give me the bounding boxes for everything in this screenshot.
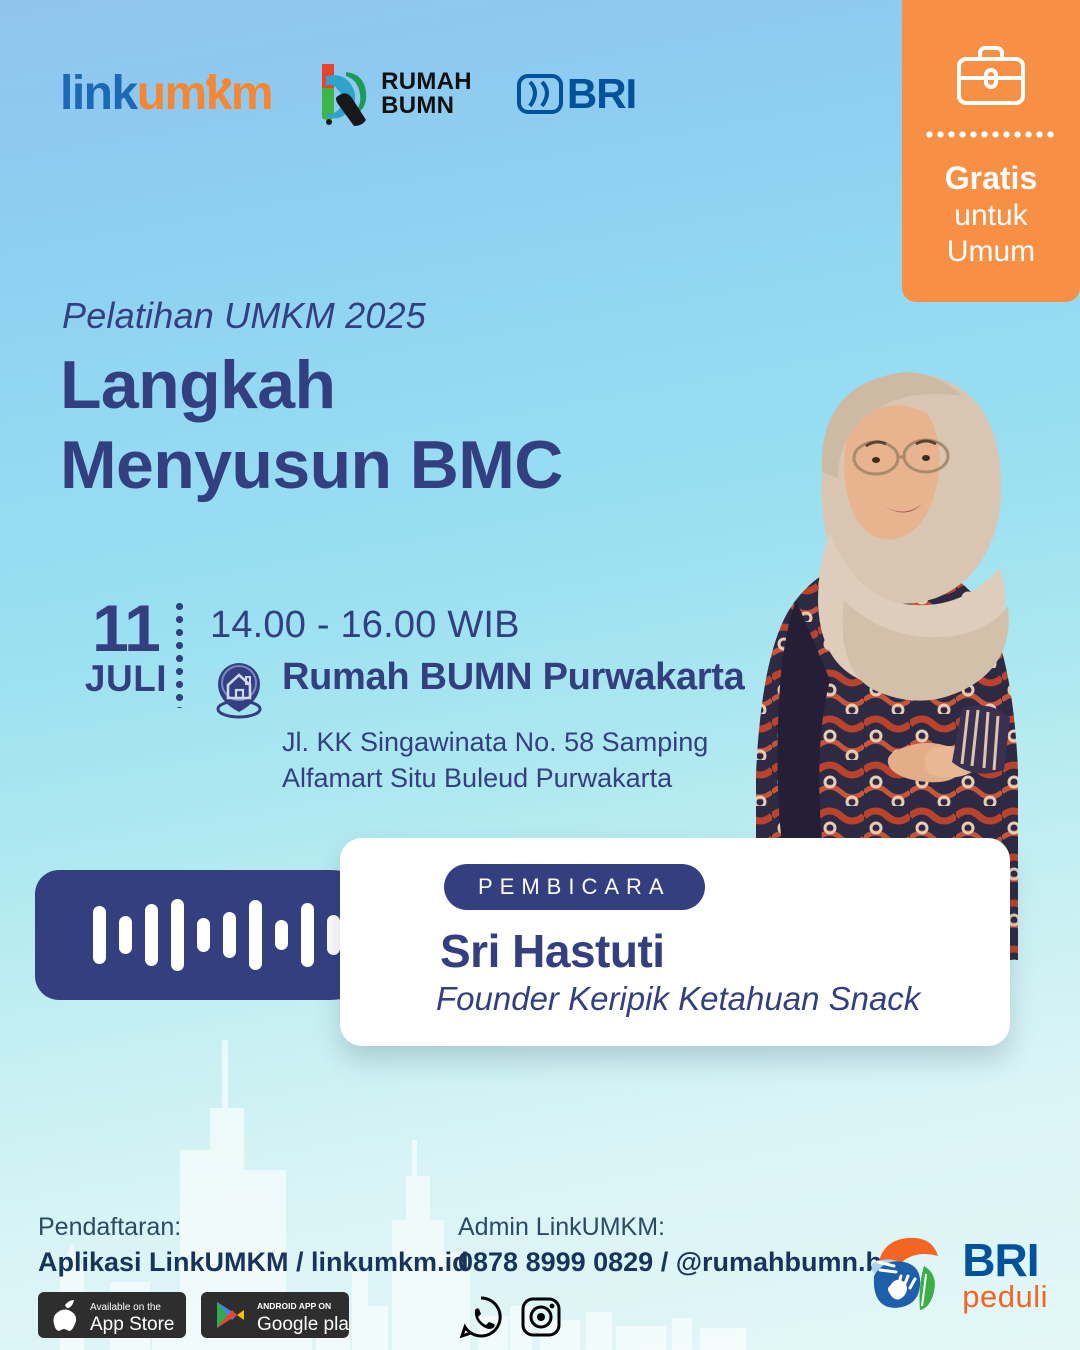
waveform-bar xyxy=(223,912,236,958)
event-month: JULI xyxy=(62,659,190,700)
registration-block: Pendaftaran: Aplikasi LinkUMKM / linkumk… xyxy=(38,1212,469,1338)
map-pin-house-icon xyxy=(210,657,268,719)
event-address-line2: Alfamart Situ Buleud Purwakarta xyxy=(282,761,780,797)
waveform-bar xyxy=(197,918,210,952)
rumah-bumn-line1: RUMAH xyxy=(381,70,472,94)
app-store-big-text: App Store xyxy=(90,1314,175,1335)
instagram-icon[interactable] xyxy=(518,1294,564,1340)
waveform-bar xyxy=(275,920,288,950)
event-info: 14.00 - 16.00 WIB Rumah BUMN Purwakarta … xyxy=(210,605,780,797)
event-address-line1: Jl. KK Singawinata No. 58 Samping xyxy=(282,725,780,761)
bri-peduli-sub: peduli xyxy=(962,1281,1048,1312)
event-address: Jl. KK Singawinata No. 58 Samping Alfama… xyxy=(282,725,780,797)
umlaut-dot-left-icon xyxy=(206,78,215,87)
app-store-small-text: Available on the xyxy=(90,1302,161,1313)
bri-peduli-logo: BRI peduli xyxy=(860,1228,1048,1320)
linkumkm-logo-link: link xyxy=(60,67,137,120)
speaker-name: Sri Hastuti xyxy=(440,924,665,978)
event-venue-row: Rumah BUMN Purwakarta xyxy=(210,657,780,719)
bri-peduli-wordmark: BRI peduli xyxy=(962,1237,1048,1312)
rumah-bumn-logo: RUMAH BUMN xyxy=(316,58,472,130)
bri-mark-icon xyxy=(516,70,564,118)
bri-logo: BRI xyxy=(516,70,636,118)
badge-dotted-divider xyxy=(924,131,1058,138)
badge-line2: untuk xyxy=(954,198,1027,234)
waveform-bar xyxy=(301,903,314,967)
speaker-role: Founder Keripik Ketahuan Snack xyxy=(436,980,920,1018)
event-day: 11 xyxy=(62,598,190,659)
bri-wordmark: BRI xyxy=(567,70,636,118)
page-title: Langkah Menyusun BMC xyxy=(60,345,563,505)
bri-peduli-mark-icon xyxy=(860,1228,952,1320)
waveform-bar xyxy=(327,915,340,955)
social-icons xyxy=(458,1294,900,1340)
speaker-label-pill: PEMBICARA xyxy=(444,864,705,910)
briefcase-icon xyxy=(955,45,1027,107)
app-store-badges: Available on the App Store ANDROID APP O… xyxy=(38,1292,469,1338)
linkumkm-logo: linkumkm xyxy=(60,70,272,118)
app-store-badge[interactable]: Available on the App Store xyxy=(38,1292,186,1338)
rumah-bumn-wordmark: RUMAH BUMN xyxy=(381,70,472,117)
admin-label: Admin LinkUMKM: xyxy=(458,1212,900,1243)
waveform-bar xyxy=(249,900,262,970)
google-play-badge[interactable]: ANDROID APP ON Google play xyxy=(201,1292,349,1338)
rumah-bumn-mark-icon xyxy=(316,58,372,130)
waveform-bar xyxy=(171,899,184,971)
registration-value: Aplikasi LinkUMKM / linkumkm.id xyxy=(38,1245,469,1280)
bri-peduli-main: BRI xyxy=(962,1237,1048,1283)
event-venue: Rumah BUMN Purwakarta xyxy=(282,657,744,698)
poster-canvas: linkumkm RUMAH BUMN xyxy=(0,0,1080,1350)
date-divider xyxy=(176,600,183,708)
admin-contact-block: Admin LinkUMKM: 0878 8999 0829 / @rumahb… xyxy=(458,1212,900,1340)
registration-label: Pendaftaran: xyxy=(38,1212,469,1243)
waveform-bar xyxy=(145,904,158,966)
gratis-badge: Gratis untuk Umum xyxy=(902,0,1080,302)
badge-line1: Gratis xyxy=(945,160,1037,198)
linkumkm-logo-umkm: umkm xyxy=(137,67,272,120)
whatsapp-icon[interactable] xyxy=(458,1294,504,1340)
admin-value: 0878 8999 0829 / @rumahbumn.bri xyxy=(458,1245,900,1280)
event-date-block: 11 JULI xyxy=(62,598,190,699)
badge-line3: Umum xyxy=(947,234,1035,270)
speaker-card: PEMBICARA Sri Hastuti Founder Keripik Ke… xyxy=(340,838,1010,1046)
umlaut-dot-right-icon xyxy=(222,78,231,87)
rumah-bumn-line2: BUMN xyxy=(381,94,472,118)
waveform-bar xyxy=(119,916,132,954)
waveform-bar xyxy=(93,906,106,964)
title-line2: Menyusun BMC xyxy=(60,425,563,505)
event-time: 14.00 - 16.00 WIB xyxy=(210,605,780,647)
title-line1: Langkah xyxy=(60,345,563,425)
partner-logo-bar: linkumkm RUMAH BUMN xyxy=(60,58,636,130)
google-play-big-text: Google play xyxy=(257,1314,349,1335)
event-kicker: Pelatihan UMKM 2025 xyxy=(62,295,426,337)
google-play-small-text: ANDROID APP ON xyxy=(257,1301,331,1311)
